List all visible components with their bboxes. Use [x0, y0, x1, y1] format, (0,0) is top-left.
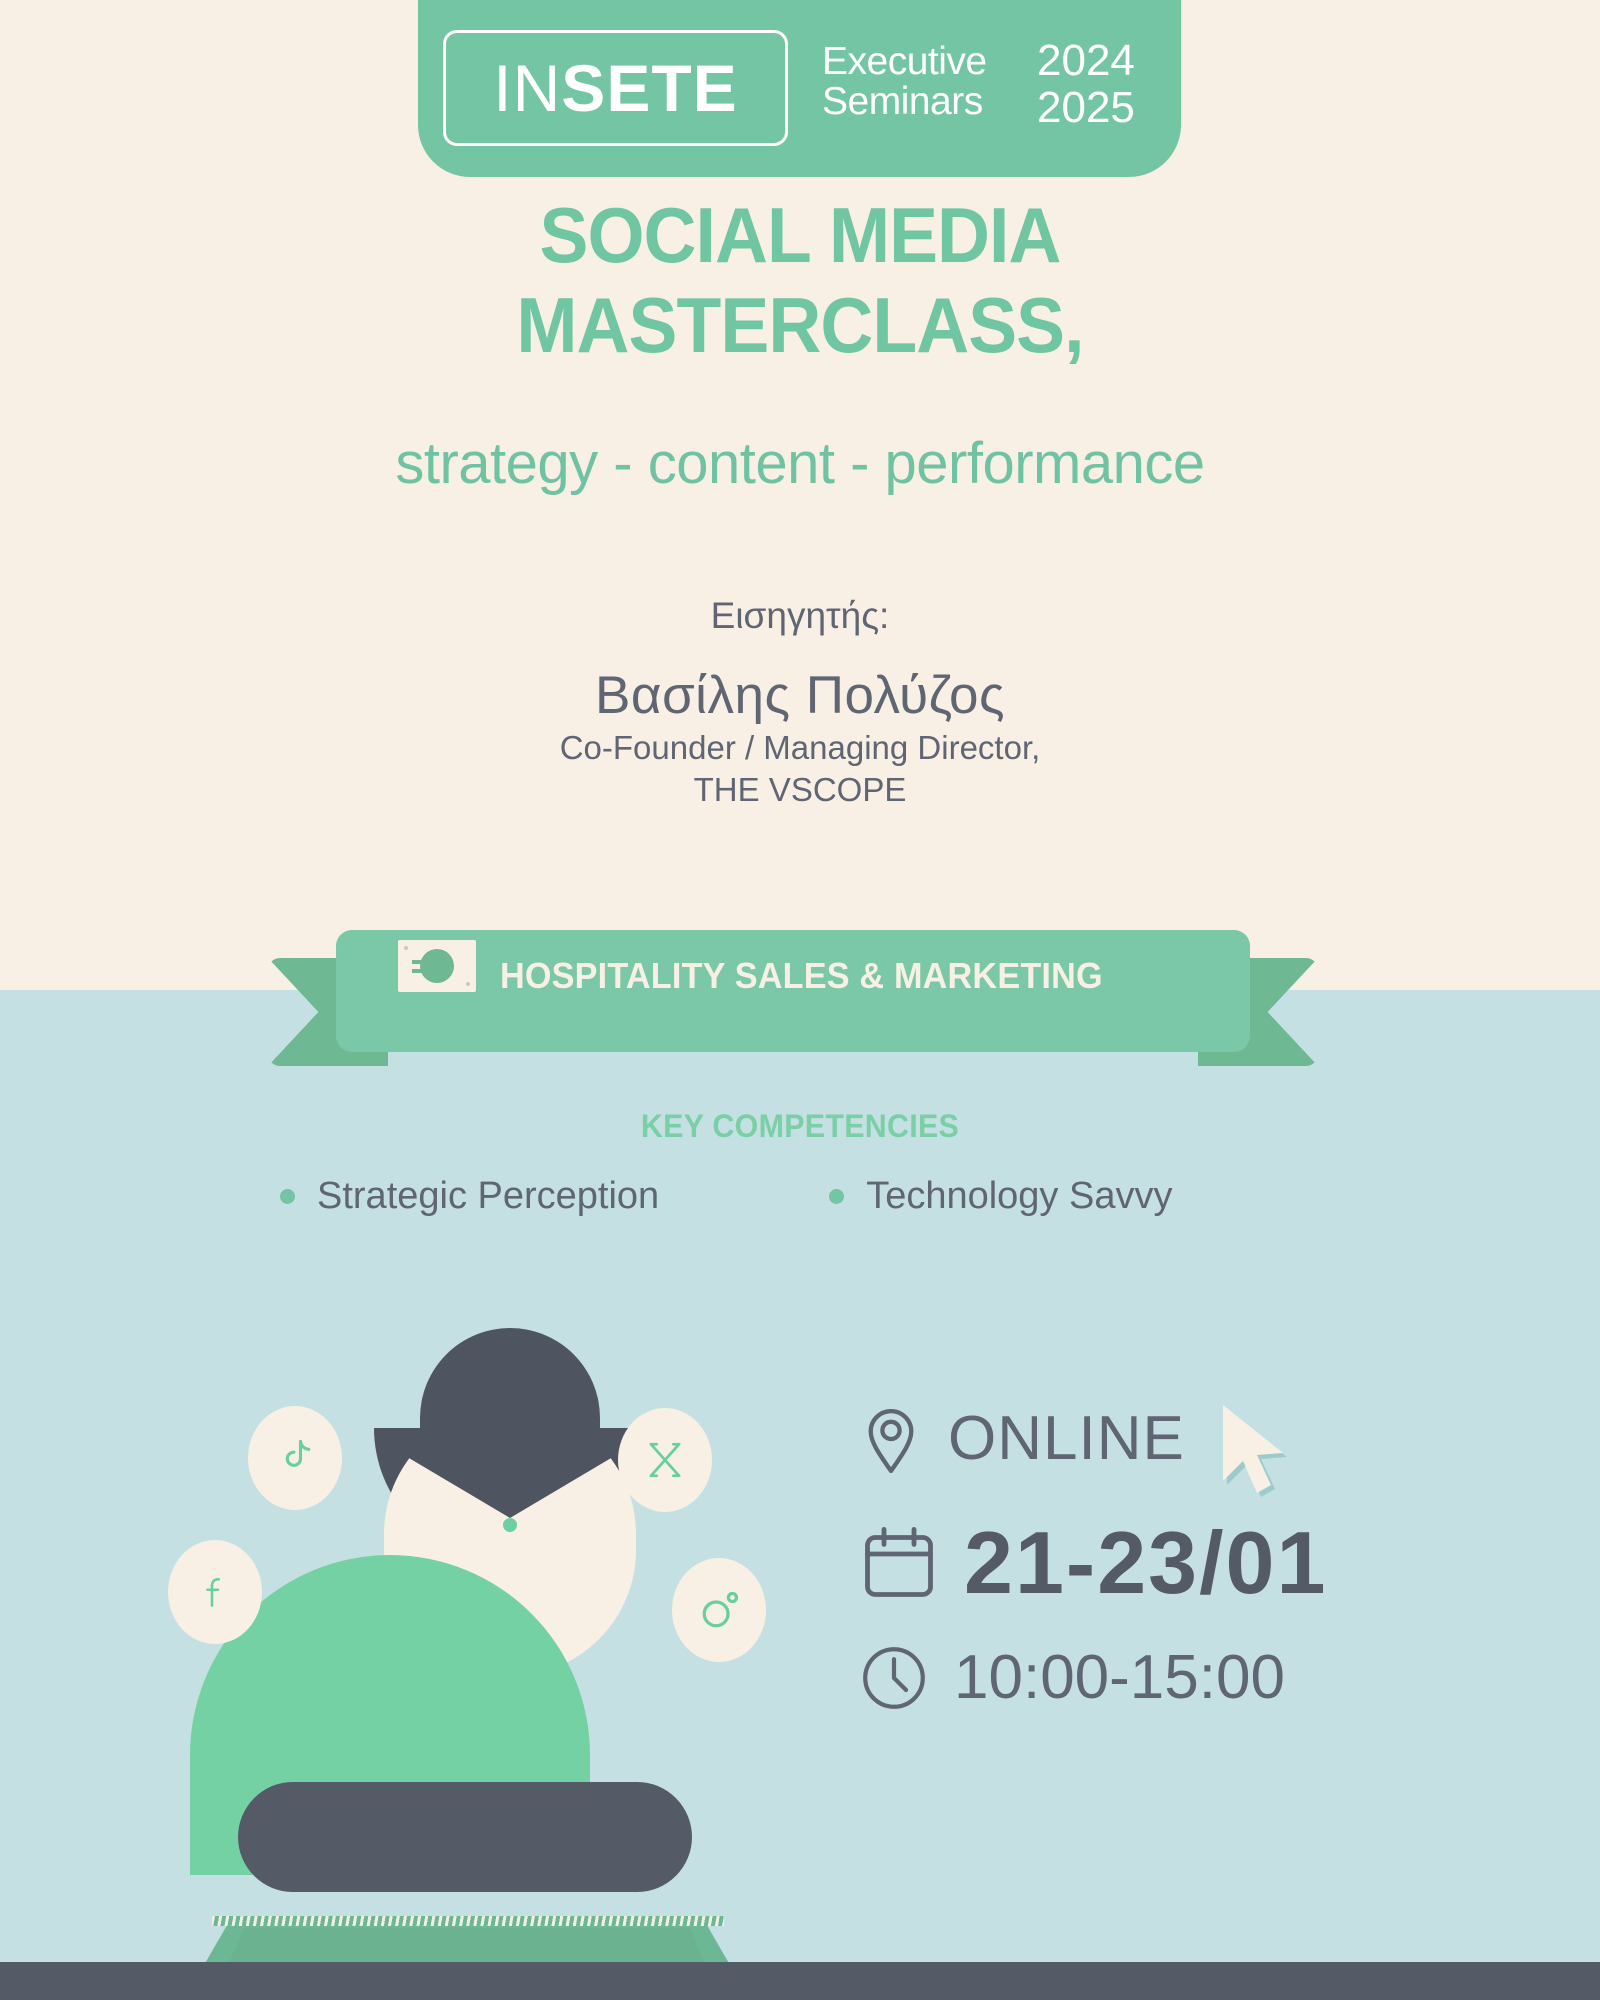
euro-symbol	[420, 949, 454, 983]
competency-label: Strategic Perception	[317, 1175, 659, 1218]
footer-bar	[0, 1962, 1600, 2000]
x-twitter-icon	[618, 1408, 712, 1512]
event-location: ONLINE	[948, 1403, 1185, 1474]
instagram-icon	[672, 1558, 766, 1662]
map-pin-icon	[860, 1400, 922, 1476]
speaker-role: Co-Founder / Managing Director, THE VSCO…	[0, 727, 1600, 811]
seminars-line2: Seminars	[822, 82, 1022, 122]
event-date: 21-23/01	[964, 1512, 1327, 1614]
speaker-role-line1: Co-Founder / Managing Director,	[0, 727, 1600, 769]
title-line2: MASTERCLASS,	[48, 280, 1552, 370]
event-date-row: 21-23/01	[860, 1512, 1480, 1614]
bullet-icon	[280, 1189, 295, 1204]
laptop-keyboard-shape	[212, 1916, 724, 1926]
clock-icon	[860, 1644, 928, 1712]
bullet-icon	[829, 1189, 844, 1204]
logo-bold-part: SETE	[561, 51, 737, 125]
year-line1: 2024	[1037, 38, 1135, 85]
list-item: Technology Savvy	[829, 1175, 1172, 1218]
seminars-line1: Executive	[822, 42, 1022, 82]
page-title: SOCIAL MEDIA MASTERCLASS,	[48, 190, 1552, 371]
event-time-row: 10:00-15:00	[860, 1642, 1480, 1713]
event-time: 10:00-15:00	[954, 1642, 1285, 1713]
event-location-row: ONLINE	[860, 1400, 1480, 1476]
tiktok-icon	[248, 1406, 342, 1510]
speaker-name: Βασίλης Πολύζος	[0, 665, 1600, 726]
event-info-block: ONLINE 21-23/01 10:00-15:00	[860, 1400, 1480, 1713]
calendar-icon	[860, 1523, 938, 1603]
bindi-dot	[503, 1518, 517, 1532]
logo-text: INSETE	[493, 55, 737, 121]
key-competencies-title: KEY COMPETENCIES	[40, 1108, 1560, 1145]
list-item: Strategic Perception	[280, 1175, 659, 1218]
competency-label: Technology Savvy	[866, 1175, 1172, 1218]
mouse-cursor-icon	[1215, 1405, 1305, 1505]
ribbon-label: HOSPITALITY SALES & MARKETING	[500, 955, 1103, 997]
speaker-role-line2: THE VSCOPE	[0, 769, 1600, 811]
seminars-label: Executive Seminars	[822, 42, 1022, 122]
year-line2: 2025	[1037, 85, 1135, 132]
years-label: 2024 2025	[1037, 38, 1135, 131]
logo-light-part: IN	[493, 51, 561, 125]
speaker-label: Εισηγητής:	[0, 595, 1600, 637]
page-subtitle: strategy - content - performance	[0, 430, 1600, 497]
facebook-icon	[168, 1540, 262, 1644]
insete-logo: INSETE	[443, 30, 788, 146]
title-line1: SOCIAL MEDIA	[48, 190, 1552, 280]
banknote-euro-icon	[398, 940, 476, 992]
laptop-screen-shape	[238, 1782, 692, 1892]
key-competencies-list: Strategic Perception Technology Savvy	[280, 1175, 1320, 1218]
poster-canvas: INSETE Executive Seminars 2024 2025 SOCI…	[0, 0, 1600, 2000]
